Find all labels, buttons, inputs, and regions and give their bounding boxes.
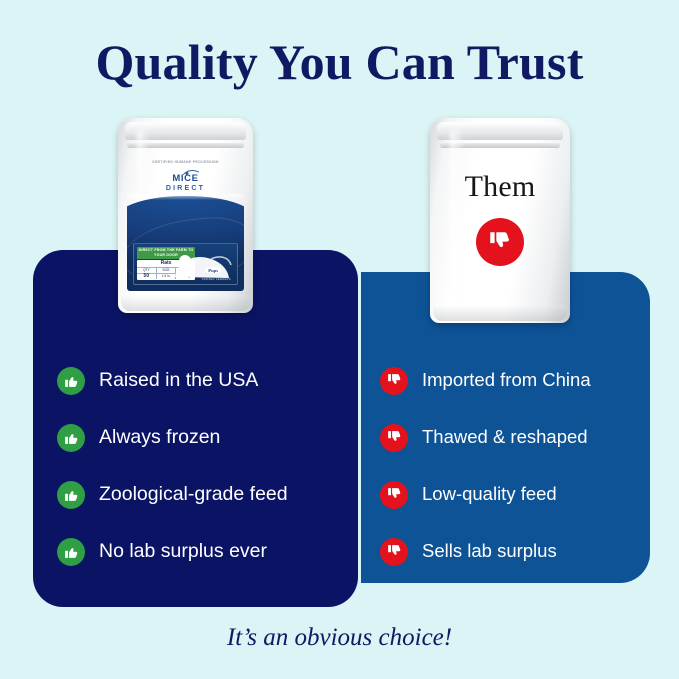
infographic-canvas: Quality You Can Trust CERTIFIED HUMANE P… <box>0 0 679 679</box>
list-item: No lab surplus ever <box>57 523 347 580</box>
closing-tagline: It’s an obvious choice! <box>0 624 679 652</box>
thumbs-up-glyph <box>63 486 80 503</box>
list-item-label: Zoological-grade feed <box>99 484 288 505</box>
bag-body: Them <box>430 118 570 323</box>
list-item: Zoological-grade feed <box>57 466 347 523</box>
bag-highlight <box>450 130 464 310</box>
thumbs-down-icon <box>380 481 408 509</box>
list-item: Sells lab surplus <box>380 523 645 580</box>
thumbs-up-glyph <box>63 543 80 560</box>
list-item: Imported from China <box>380 352 645 409</box>
list-item-label: Low-quality feed <box>422 484 557 504</box>
our-product-bag: CERTIFIED HUMANE PROCESSING MICE DIRECT … <box>118 118 253 313</box>
list-item: Low-quality feed <box>380 466 645 523</box>
thumbs-down-icon <box>380 424 408 452</box>
bag-bottom-fold <box>433 305 567 321</box>
thumbs-up-icon <box>57 481 85 509</box>
thumbs-down-icon <box>380 367 408 395</box>
thumbs-down-icon <box>476 218 524 266</box>
our-benefits-list: Raised in the USA Always frozen Zoologic… <box>57 352 347 580</box>
list-item-label: Sells lab surplus <box>422 541 557 561</box>
thumbs-down-glyph <box>386 372 403 389</box>
mouse-swoosh-icon <box>183 169 199 176</box>
thumbs-down-icon <box>380 538 408 566</box>
pups-sublabel: FROZEN FEEDERS <box>202 278 231 281</box>
list-item: Always frozen <box>57 409 347 466</box>
thumbs-down-glyph <box>386 543 403 560</box>
bag-bottom-fold <box>121 295 251 311</box>
bag-label: CERTIFIED HUMANE PROCESSING MICE DIRECT … <box>127 154 244 291</box>
page-title: Quality You Can Trust <box>0 36 679 89</box>
list-item-label: No lab surplus ever <box>99 541 267 562</box>
bag-body: CERTIFIED HUMANE PROCESSING MICE DIRECT … <box>118 118 253 313</box>
thumbs-up-glyph <box>63 429 80 446</box>
bag-spec-panel: DIRECT FROM THE FARM TO YOUR DOOR Rats Q… <box>133 243 238 285</box>
thumbs-down-glyph <box>386 486 403 503</box>
competitor-bag: Them <box>430 118 570 323</box>
list-item-label: Imported from China <box>422 370 591 390</box>
brand-logo: MICE DIRECT <box>127 174 244 194</box>
mouse-illustration-icon <box>171 249 233 281</box>
list-item-label: Thawed & reshaped <box>422 427 588 447</box>
thumbs-down-glyph <box>487 229 513 255</box>
list-item-label: Always frozen <box>99 427 220 448</box>
list-item: Raised in the USA <box>57 352 347 409</box>
competitor-drawbacks-list: Imported from China Thawed & reshaped Lo… <box>380 352 645 580</box>
thumbs-up-icon <box>57 367 85 395</box>
thumbs-up-icon <box>57 424 85 452</box>
pups-label: Pups <box>205 267 221 273</box>
thumbs-up-glyph <box>63 372 80 389</box>
list-item: Thawed & reshaped <box>380 409 645 466</box>
thumbs-up-icon <box>57 538 85 566</box>
spec-value-0: 50 <box>137 274 157 279</box>
list-item-label: Raised in the USA <box>99 370 258 391</box>
brand-suffix: DIRECT <box>127 184 244 195</box>
thumbs-down-glyph <box>386 429 403 446</box>
